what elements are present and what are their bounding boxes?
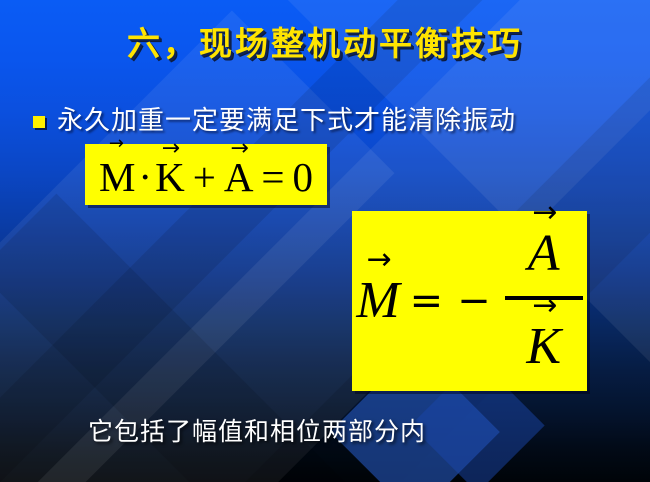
symbol-plus: + [193,157,216,198]
square-bullet-icon [33,116,45,128]
vector-arrow-icon: → [367,245,392,275]
vector-m-1: → M [99,157,135,198]
page-title: 六，现场整机动平衡技巧 [0,17,650,65]
fraction-denominator: → K [520,320,567,375]
vector-a-1: → A [224,157,254,198]
vector-k-1: → K [155,157,185,198]
symbol-m: M [99,154,135,200]
vector-m-2: → M [356,275,399,327]
vector-arrow-icon: → [109,135,124,153]
vector-arrow-icon: → [162,138,180,160]
symbol-equals: = [410,281,444,321]
bullet-line: 永久加重一定要满足下式才能清除振动 [33,100,516,137]
caption-text: 它包括了幅值和相位两部分内 [88,412,426,448]
symbol-k: K [526,318,561,375]
fraction: → A → K [505,227,583,374]
vector-k-2: → K [526,321,561,373]
formula-expression-2: → M = − → A → K [352,211,587,391]
formula-expression-1: → M · → K + → A = 0 [85,144,327,205]
formula-box-secondary: → M = − → A → K [352,211,587,391]
symbol-dot: · [138,157,152,198]
fraction-numerator: → A [522,227,566,282]
vector-arrow-icon: → [532,291,557,321]
symbol-zero: 0 [293,157,314,198]
vector-arrow-icon: → [230,138,248,160]
slide-canvas: 六，现场整机动平衡技巧 永久加重一定要满足下式才能清除振动 → M · → K … [0,0,650,482]
vector-arrow-icon: → [532,198,557,228]
symbol-m: M [356,272,399,329]
symbol-equals: = [261,157,284,198]
formula-box-primary: → M · → K + → A = 0 [85,144,327,205]
symbol-minus: − [457,281,491,321]
bullet-text: 永久加重一定要满足下式才能清除振动 [57,100,516,137]
vector-a-2: → A [528,228,560,280]
symbol-a: A [528,225,560,282]
